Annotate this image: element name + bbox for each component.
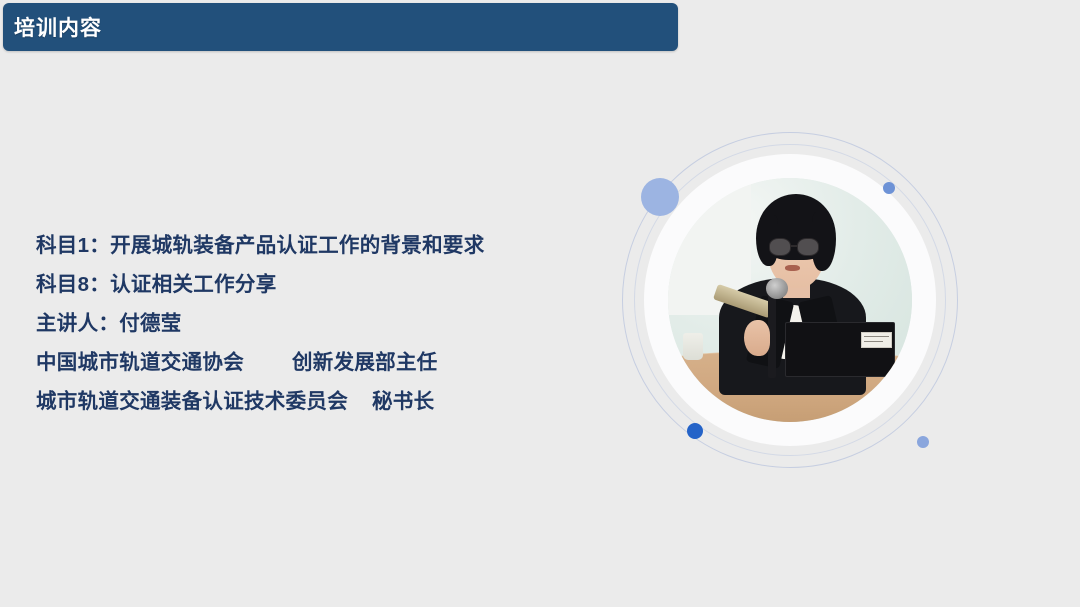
- decorative-dot-top-right: [883, 182, 895, 194]
- speaker-photo: [668, 178, 912, 422]
- slide-title-bar: 培训内容: [3, 3, 678, 51]
- body-line-affiliation-committee: 城市轨道交通装备认证技术委员会 秘书长: [36, 382, 596, 421]
- slide-title-text: 培训内容: [14, 12, 102, 42]
- body-line-speaker: 主讲人：付德莹: [36, 304, 596, 343]
- photo-eyeglass-left: [769, 238, 791, 256]
- body-line-affiliation-association: 中国城市轨道交通协会 创新发展部主任: [36, 343, 596, 382]
- photo-microphone-head: [766, 278, 788, 299]
- decorative-dot-bottom-right: [917, 436, 929, 448]
- photo-laptop-label-line: [864, 336, 888, 337]
- photo-speaker-mouth: [785, 265, 800, 271]
- photo-laptop-label-line: [864, 341, 882, 342]
- photo-laptop: [785, 322, 895, 377]
- decorative-dot-bottom-left: [687, 423, 703, 439]
- photo-speaker-hand: [744, 320, 771, 357]
- slide-body-text: 科目1：开展城轨装备产品认证工作的背景和要求 科目8：认证相关工作分享 主讲人：…: [36, 226, 596, 421]
- photo-eyeglass-bridge: [791, 245, 798, 247]
- slide-canvas: 培训内容 科目1：开展城轨装备产品认证工作的背景和要求 科目8：认证相关工作分享…: [0, 0, 1080, 607]
- photo-paper-cup: [683, 333, 704, 360]
- photo-eyeglass-right: [797, 238, 819, 256]
- body-line-subject-1: 科目1：开展城轨装备产品认证工作的背景和要求: [36, 226, 596, 265]
- speaker-portrait-group: [622, 132, 958, 468]
- decorative-dot-large: [641, 178, 679, 216]
- body-line-subject-8: 科目8：认证相关工作分享: [36, 265, 596, 304]
